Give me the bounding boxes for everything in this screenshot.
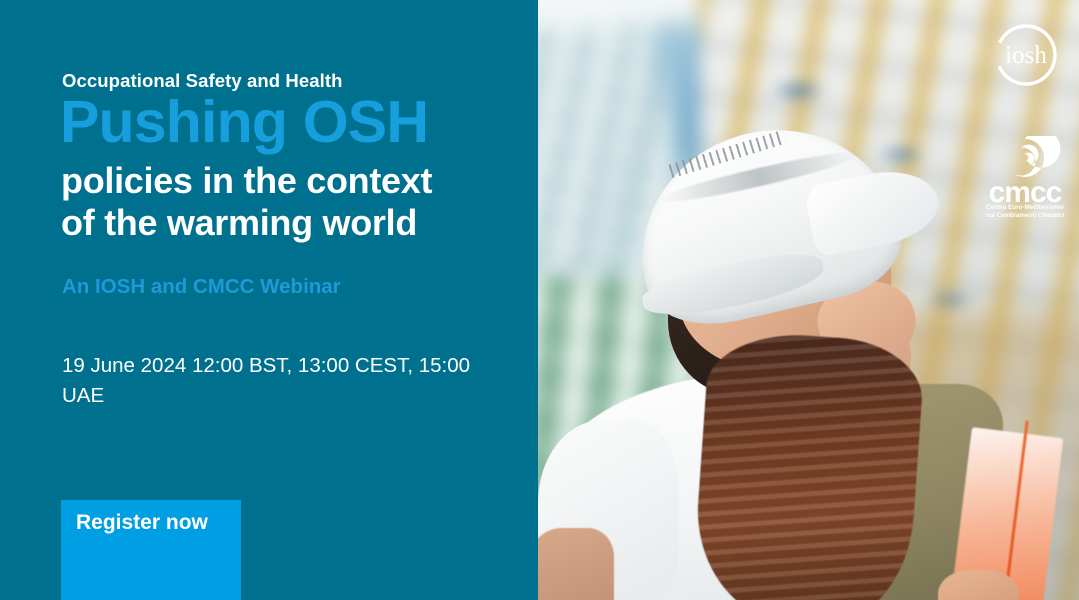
worker-arm: [538, 528, 614, 600]
cmcc-tagline: Centro Euro-Mediterraneo sui Cambiamenti…: [975, 204, 1075, 220]
headline-body-line1: policies in the context: [61, 160, 432, 202]
webinar-subtitle: An IOSH and CMCC Webinar: [62, 275, 341, 299]
register-now-button[interactable]: Register now: [61, 500, 241, 600]
headline-body-line2: of the warming world: [61, 202, 432, 244]
cmcc-tagline-line1: Centro Euro-Mediterraneo: [975, 204, 1075, 212]
cmcc-spiral-icon: [975, 136, 1075, 180]
cmcc-logo: cmcc Centro Euro-Mediterraneo sui Cambia…: [975, 136, 1075, 222]
headline-body: policies in the context of the warming w…: [61, 160, 432, 244]
construction-worker: [538, 0, 1079, 600]
cmcc-tagline-line2: sui Cambiamenti Climatici: [975, 212, 1075, 220]
webinar-banner: iosh cmcc Centro Euro-Mediterraneo sui C…: [0, 0, 1079, 600]
iosh-logo: iosh: [993, 22, 1059, 88]
headline-hero: Pushing OSH: [60, 92, 428, 152]
webinar-datetime: 19 June 2024 12:00 BST, 13:00 CEST, 15:0…: [62, 351, 482, 410]
iosh-wordmark: iosh: [1005, 42, 1047, 69]
content-panel: Occupational Safety and Health Pushing O…: [0, 0, 538, 600]
worker-ponytail: [691, 329, 927, 600]
hero-photo: iosh cmcc Centro Euro-Mediterraneo sui C…: [538, 0, 1079, 600]
register-now-label: Register now: [76, 511, 208, 535]
